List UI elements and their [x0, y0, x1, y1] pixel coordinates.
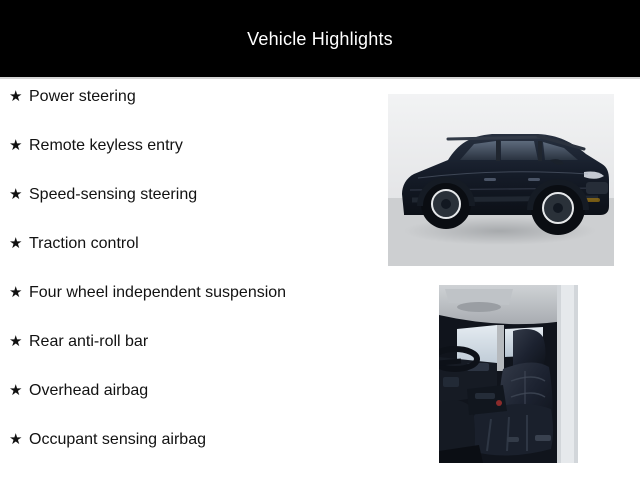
list-item-label: Remote keyless entry	[29, 134, 380, 157]
list-item-label: Traction control	[29, 232, 380, 255]
star-icon: ★	[9, 134, 29, 157]
vehicle-interior-photo	[439, 285, 578, 463]
list-item-label: Occupant sensing airbag	[29, 428, 380, 451]
list-item: ★ Remote keyless entry	[0, 134, 380, 183]
list-item-label: Four wheel independent suspension	[29, 281, 380, 304]
header-divider	[0, 77, 640, 79]
star-icon: ★	[9, 379, 29, 402]
vehicle-exterior-photo	[388, 94, 614, 266]
list-item: ★ Four wheel independent suspension	[0, 281, 380, 330]
list-item-label: Rear anti-roll bar	[29, 330, 380, 353]
star-icon: ★	[9, 281, 29, 304]
vehicle-highlights-list: ★ Power steering ★ Remote keyless entry …	[0, 85, 380, 477]
star-icon: ★	[9, 428, 29, 451]
star-icon: ★	[9, 232, 29, 255]
star-icon: ★	[9, 85, 29, 108]
star-icon: ★	[9, 183, 29, 206]
header-bar: Vehicle Highlights	[0, 0, 640, 77]
list-item: ★ Overhead airbag	[0, 379, 380, 428]
list-item-label: Speed-sensing steering	[29, 183, 380, 206]
list-item: ★ Traction control	[0, 232, 380, 281]
list-item: ★ Power steering	[0, 85, 380, 134]
list-item: ★ Rear anti-roll bar	[0, 330, 380, 379]
list-item: ★ Speed-sensing steering	[0, 183, 380, 232]
list-item-label: Power steering	[29, 85, 380, 108]
vehicle-interior-image	[439, 285, 578, 463]
vehicle-exterior-image	[388, 94, 614, 266]
star-icon: ★	[9, 330, 29, 353]
list-item-label: Overhead airbag	[29, 379, 380, 402]
page-title: Vehicle Highlights	[0, 0, 640, 77]
list-item: ★ Occupant sensing airbag	[0, 428, 380, 477]
